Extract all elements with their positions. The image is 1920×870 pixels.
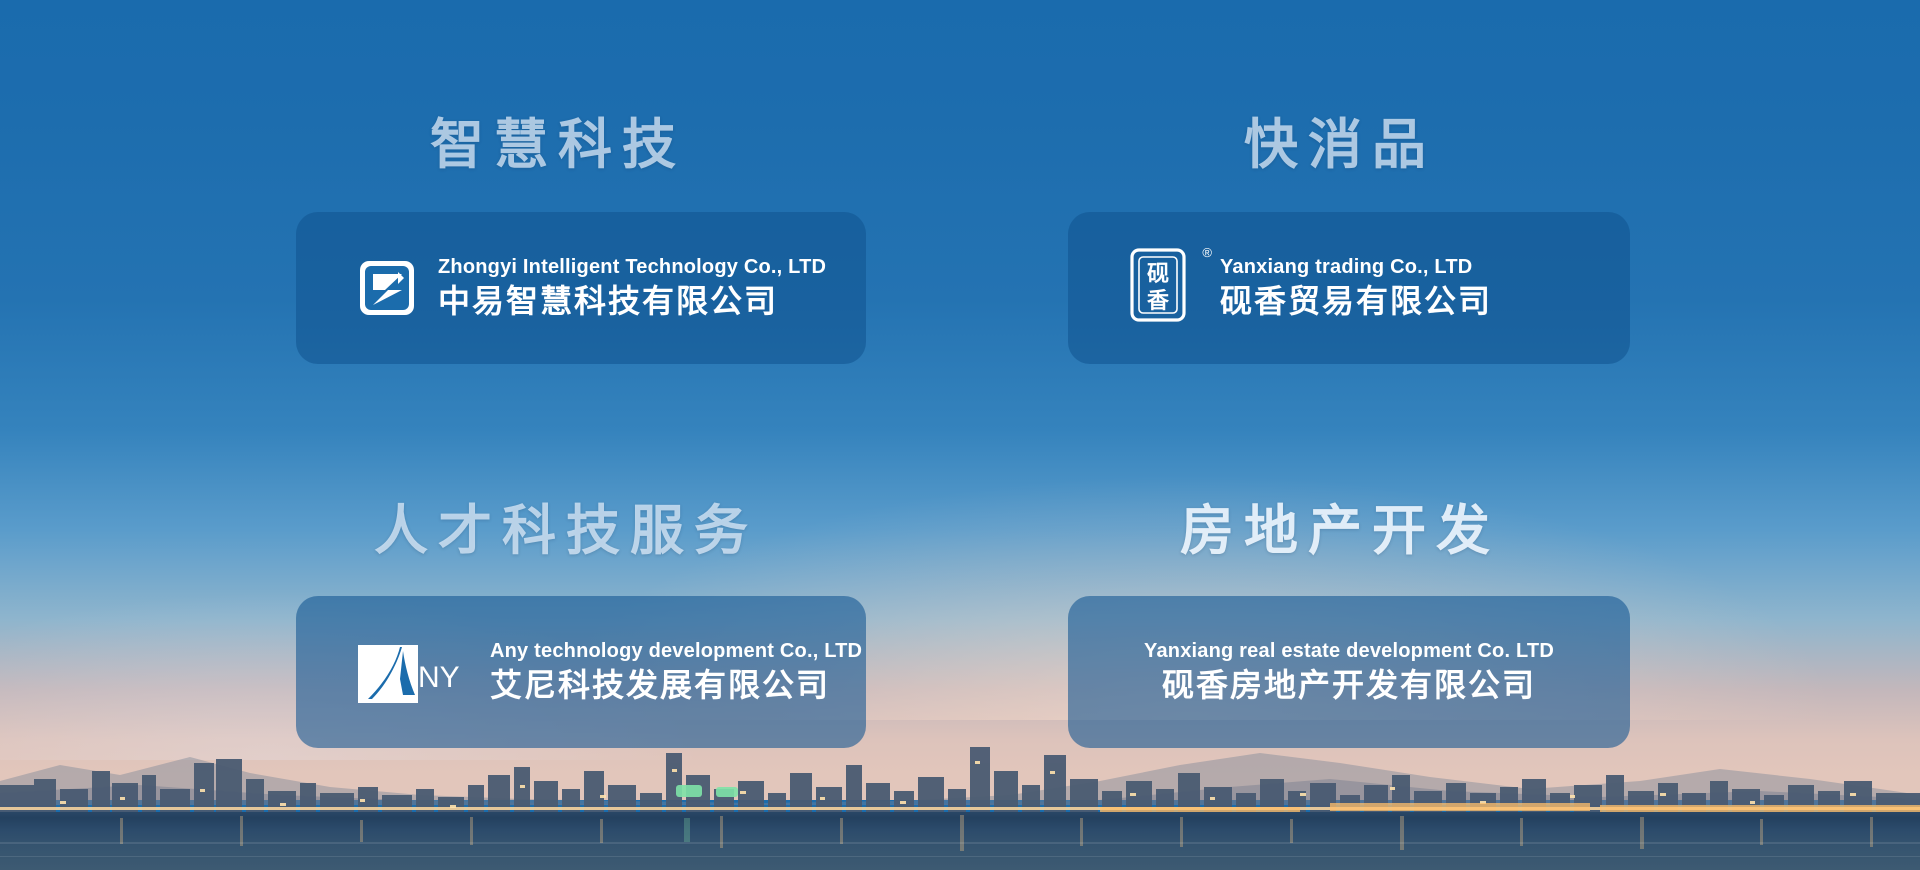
company-card-zhongyi[interactable]: Zhongyi Intelligent Technology Co., LTD …: [296, 212, 866, 364]
company-card-yanxiang-real-estate[interactable]: Yanxiang real estate development Co. LTD…: [1068, 596, 1630, 748]
company-name-cn: 砚香房地产开发有限公司: [1162, 665, 1536, 707]
company-names: Yanxiang trading Co., LTD 砚香贸易有限公司: [1220, 254, 1492, 323]
seal-char-top: 砚: [1147, 262, 1169, 287]
registered-trademark-icon: ®: [1202, 246, 1212, 259]
company-names: Zhongyi Intelligent Technology Co., LTD …: [438, 254, 826, 323]
company-name-cn: 砚香贸易有限公司: [1220, 281, 1492, 323]
company-name-cn: 艾尼科技发展有限公司: [490, 665, 862, 707]
section-heading-real-estate: 房地产开发: [1180, 504, 1500, 558]
company-name-en: Yanxiang trading Co., LTD: [1220, 254, 1492, 281]
company-name-en: Yanxiang real estate development Co. LTD: [1144, 638, 1554, 665]
company-card-yanxiang-trading[interactable]: 砚 香 ® Yanxiang trading Co., LTD 砚香贸易有限公司: [1068, 212, 1630, 364]
zhongyi-z-mark-logo: [358, 259, 416, 317]
any-logo-letters: NY: [418, 661, 460, 694]
company-card-any-technology[interactable]: NY Any technology development Co., LTD 艾…: [296, 596, 866, 748]
company-name-en: Zhongyi Intelligent Technology Co., LTD: [438, 254, 826, 281]
yanxiang-seal-logo: 砚 香 ®: [1130, 248, 1198, 328]
company-name-en: Any technology development Co., LTD: [490, 638, 862, 665]
section-heading-fmcg: 快消品: [1244, 118, 1436, 172]
seal-char-bottom: 香: [1147, 289, 1169, 314]
section-heading-talent-tech-services: 人才科技服务: [374, 504, 758, 558]
company-names: Any technology development Co., LTD 艾尼科技…: [490, 638, 862, 707]
company-names: Yanxiang real estate development Co. LTD…: [1144, 638, 1554, 707]
section-heading-smart-tech: 智慧科技: [430, 118, 686, 172]
company-name-cn: 中易智慧科技有限公司: [438, 281, 826, 323]
any-mountain-logo: NY: [358, 639, 468, 705]
